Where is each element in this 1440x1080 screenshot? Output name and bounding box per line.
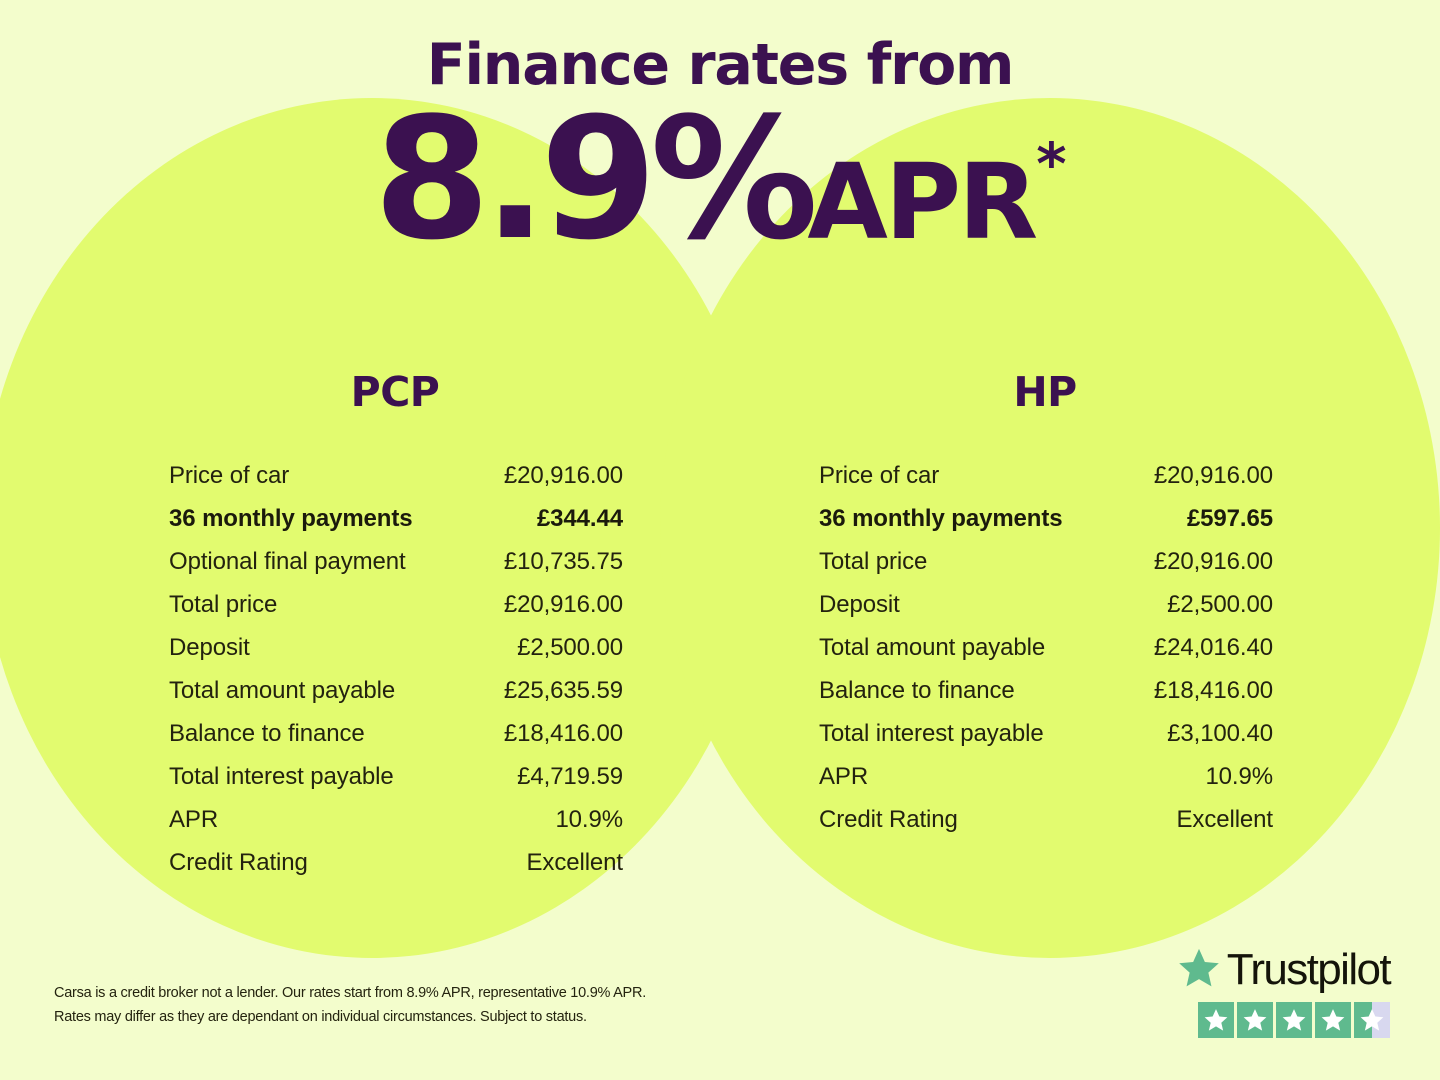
row-value: Excellent [1177,806,1273,834]
row-value: £20,916.00 [1154,548,1273,576]
plan-row: 36 monthly payments£597.65 [795,497,1295,540]
row-label: Total amount payable [169,677,395,705]
trustpilot-star-tile [1354,1002,1390,1038]
row-label: APR [169,806,218,834]
plan-row: Total amount payable£24,016.40 [795,626,1295,669]
row-label: Deposit [819,591,900,619]
plan-row: Total interest payable£3,100.40 [795,712,1295,755]
plan-row: Balance to finance£18,416.00 [795,669,1295,712]
row-label: Credit Rating [169,849,308,877]
trustpilot-star-tile [1315,1002,1351,1038]
row-value: £20,916.00 [504,591,623,619]
row-label: Price of car [819,462,939,490]
row-label: Balance to finance [169,720,365,748]
plan-row: Optional final payment£10,735.75 [145,540,645,583]
plan-row: Total price£20,916.00 [795,540,1295,583]
plan-row: Deposit£2,500.00 [795,583,1295,626]
row-value: 10.9% [555,806,623,834]
row-label: Total price [819,548,927,576]
row-value: Excellent [527,849,623,877]
trustpilot-badge[interactable]: Trustpilot [1177,945,1390,1038]
headline-rate-row: 8.9% APR * [0,102,1440,257]
row-label: Total price [169,591,277,619]
plan-row: APR10.9% [145,798,645,841]
trustpilot-label: Trustpilot [1227,945,1390,995]
finance-plan-hp: HPPrice of car£20,916.0036 monthly payme… [795,368,1295,884]
row-value: £10,735.75 [504,548,623,576]
row-label: Total interest payable [169,763,394,791]
asterisk-marker: * [1036,138,1066,191]
row-value: 10.9% [1205,763,1273,791]
disclaimer-line-2: Rates may differ as they are dependant o… [54,1006,814,1030]
row-value: £24,016.40 [1154,634,1273,662]
headline-block: Finance rates from 8.9% APR * [0,36,1440,256]
plan-title: PCP [145,368,645,416]
row-value: £3,100.40 [1167,720,1273,748]
row-value: £18,416.00 [1154,677,1273,705]
plan-row: Price of car£20,916.00 [795,454,1295,497]
apr-label: APR [807,155,1035,257]
plan-row: Credit RatingExcellent [145,841,645,884]
row-value: £344.44 [537,505,623,533]
trustpilot-star-rating [1198,1002,1390,1038]
row-label: Total interest payable [819,720,1044,748]
row-label: Deposit [169,634,250,662]
apr-rate-value: 8.9% [373,102,811,257]
row-label: Total amount payable [819,634,1045,662]
disclaimer-text: Carsa is a credit broker not a lender. O… [54,982,814,1030]
row-label: 36 monthly payments [819,505,1063,533]
plan-row: 36 monthly payments£344.44 [145,497,645,540]
plan-row: Deposit£2,500.00 [145,626,645,669]
row-label: Price of car [169,462,289,490]
row-value: £2,500.00 [517,634,623,662]
plan-row: Price of car£20,916.00 [145,454,645,497]
plan-row: Credit RatingExcellent [795,798,1295,841]
row-value: £18,416.00 [504,720,623,748]
trustpilot-star-tile [1237,1002,1273,1038]
plan-row: Total price£20,916.00 [145,583,645,626]
row-value: £25,635.59 [504,677,623,705]
plan-rows: Price of car£20,916.0036 monthly payment… [795,454,1295,841]
row-label: Balance to finance [819,677,1015,705]
row-value: £597.65 [1187,505,1273,533]
row-value: £20,916.00 [1154,462,1273,490]
row-value: £20,916.00 [504,462,623,490]
row-value: £2,500.00 [1167,591,1273,619]
row-label: 36 monthly payments [169,505,413,533]
trustpilot-wordmark: Trustpilot [1177,945,1390,995]
trustpilot-star-tile [1198,1002,1234,1038]
plan-row: Total amount payable£25,635.59 [145,669,645,712]
plan-rows: Price of car£20,916.0036 monthly payment… [145,454,645,884]
plan-row: Total interest payable£4,719.59 [145,755,645,798]
plan-title: HP [795,368,1295,416]
plan-row: APR10.9% [795,755,1295,798]
disclaimer-line-1: Carsa is a credit broker not a lender. O… [54,982,814,1006]
plan-row: Balance to finance£18,416.00 [145,712,645,755]
row-label: Credit Rating [819,806,958,834]
finance-plan-pcp: PCPPrice of car£20,916.0036 monthly paym… [145,368,645,884]
row-label: Optional final payment [169,548,406,576]
trustpilot-star-icon [1177,946,1221,995]
trustpilot-star-tile [1276,1002,1312,1038]
row-label: APR [819,763,868,791]
finance-plans-container: PCPPrice of car£20,916.0036 monthly paym… [0,368,1440,884]
row-value: £4,719.59 [517,763,623,791]
